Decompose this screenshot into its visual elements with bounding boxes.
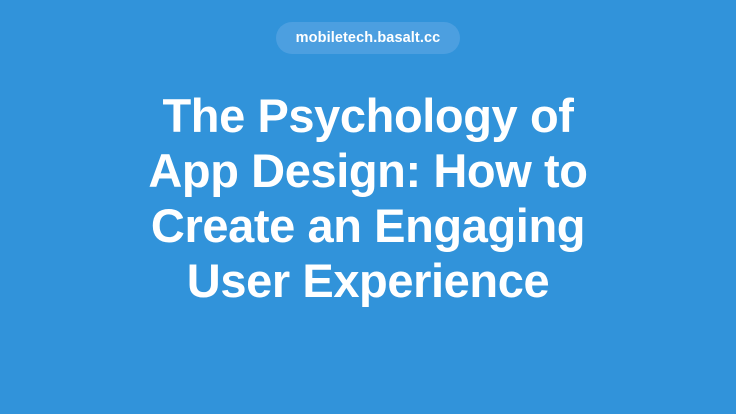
headline-line-1: The Psychology of [133,88,603,143]
domain-badge-label: mobiletech.basalt.cc [296,31,441,46]
title-card: mobiletech.basalt.cc The Psychology of A… [0,0,736,414]
page-title: The Psychology of App Design: How to Cre… [133,88,603,308]
headline-wrap: The Psychology of App Design: How to Cre… [0,88,736,308]
headline-line-4: User Experience [133,253,603,308]
badge-row: mobiletech.basalt.cc [0,22,736,54]
headline-line-3: Create an Engaging [133,198,603,253]
headline-line-2: App Design: How to [133,143,603,198]
domain-badge[interactable]: mobiletech.basalt.cc [276,22,461,54]
